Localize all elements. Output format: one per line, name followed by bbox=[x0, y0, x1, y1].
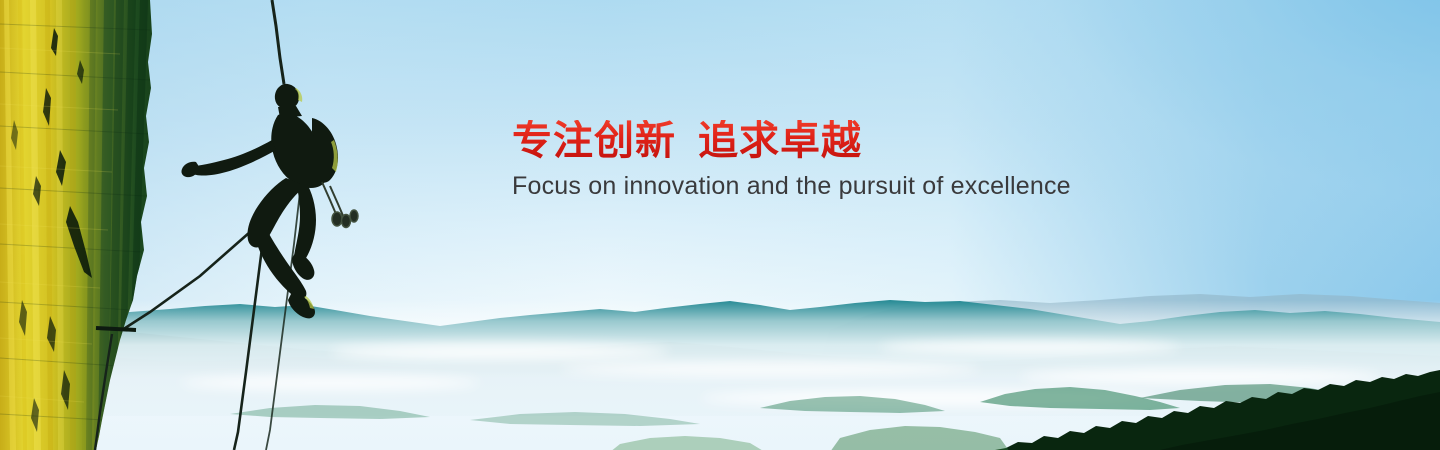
rope-anchor-tail bbox=[95, 334, 112, 450]
climbing-gear bbox=[322, 182, 358, 228]
rope-anchor-point bbox=[96, 328, 136, 330]
climber-and-ropes bbox=[0, 0, 400, 450]
rope-upper bbox=[272, 0, 284, 84]
headline-chinese-part-2: 追求卓越 bbox=[698, 118, 862, 164]
rappelling-climber-silhouette bbox=[181, 84, 338, 319]
headline-block: 专注创新追求卓越 Focus on innovation and the pur… bbox=[512, 120, 1132, 201]
headline-chinese-part-1: 专注创新 bbox=[512, 118, 676, 164]
headline-chinese: 专注创新追求卓越 bbox=[512, 120, 1132, 162]
headline-english: Focus on innovation and the pursuit of e… bbox=[512, 172, 1132, 201]
hero-banner: 专注创新追求卓越 Focus on innovation and the pur… bbox=[0, 0, 1440, 450]
